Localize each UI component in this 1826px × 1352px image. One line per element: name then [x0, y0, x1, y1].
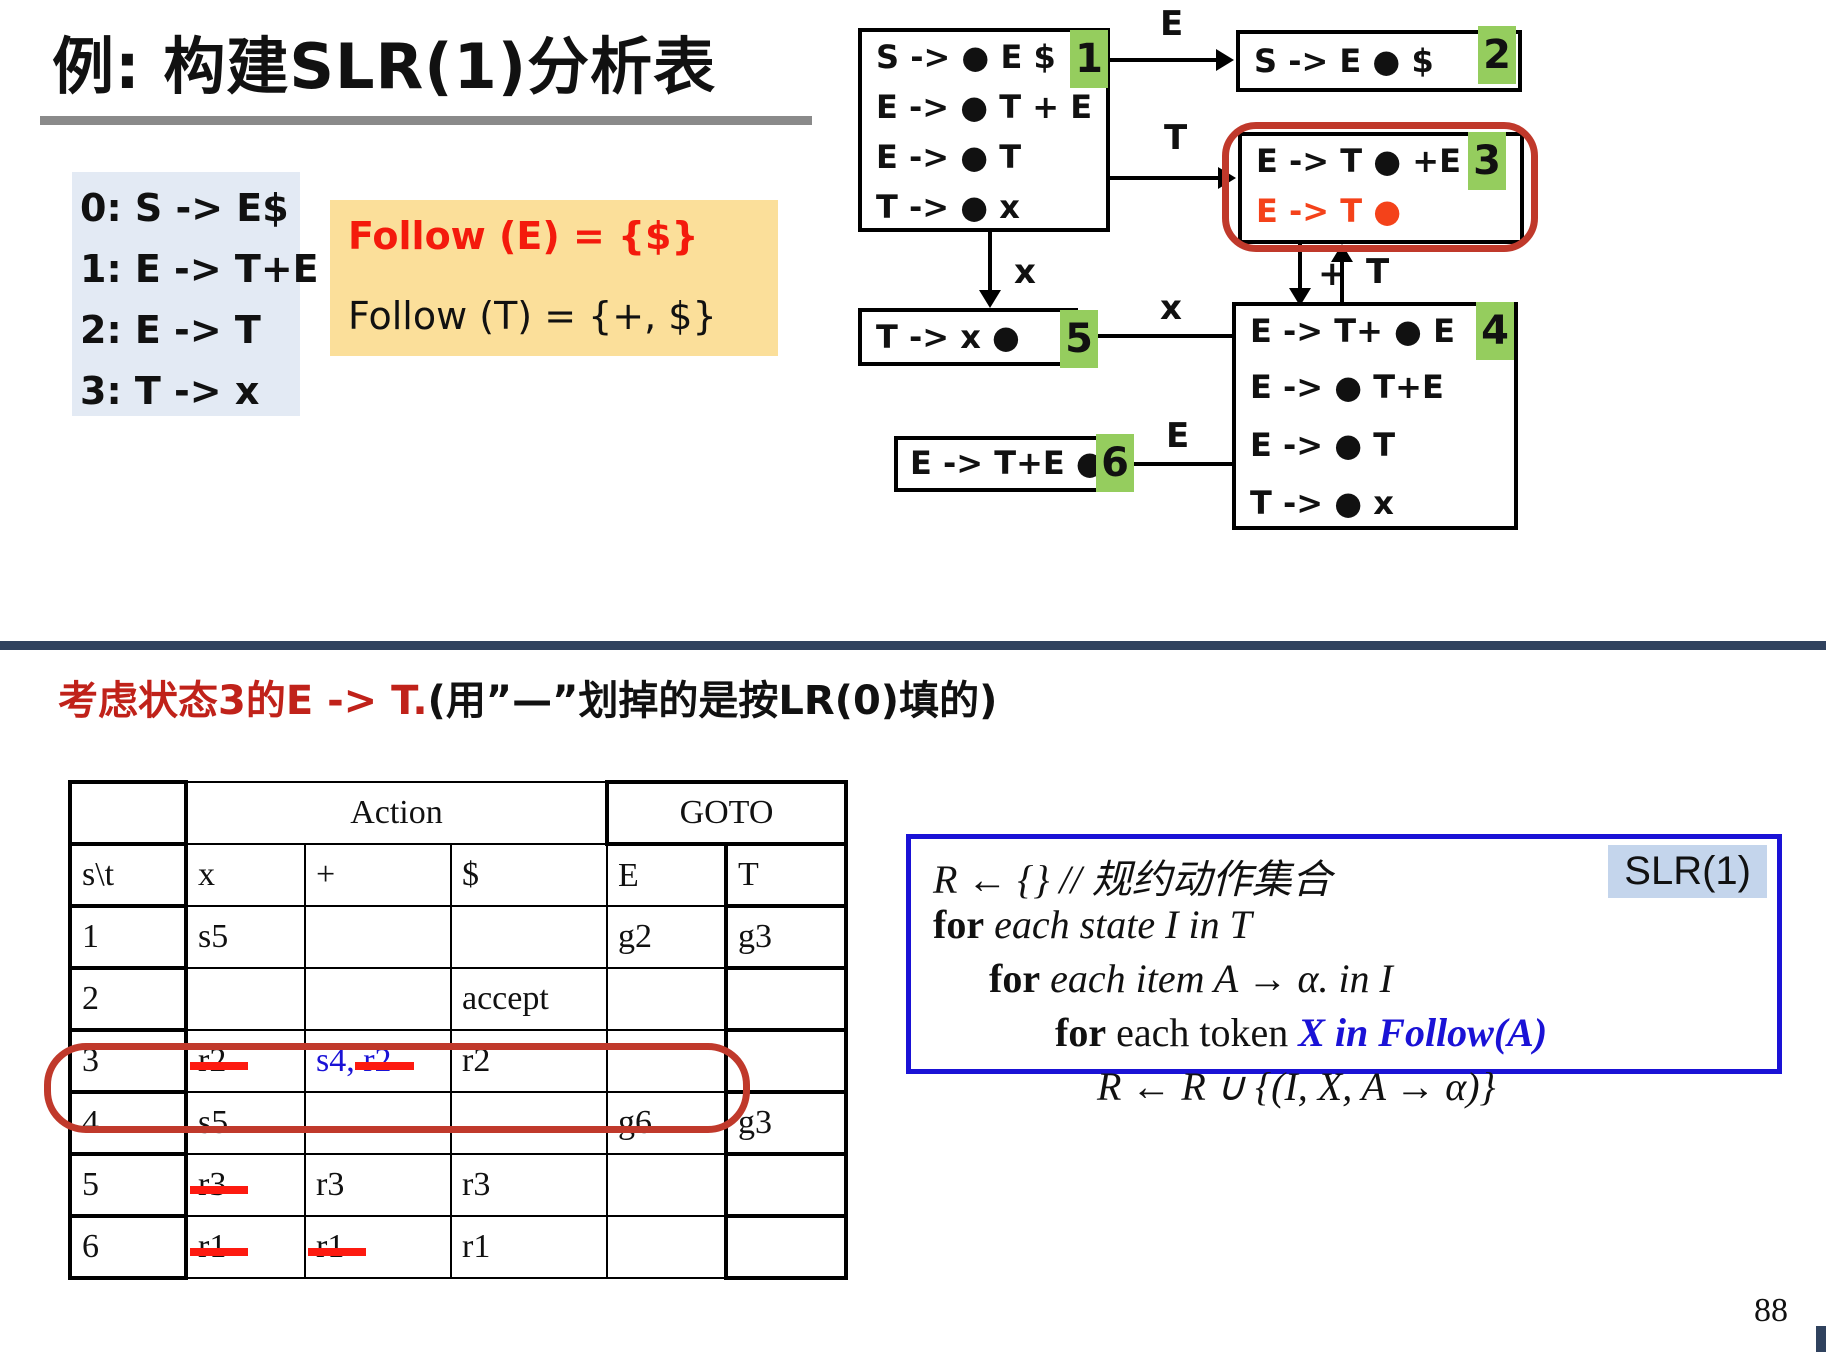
item-text: E -> ● T: [876, 138, 1021, 176]
cell-state: 5: [70, 1154, 186, 1216]
state-badge-6: 6: [1096, 434, 1134, 492]
cell-goto-E[interactable]: [607, 1154, 726, 1216]
table-group-header-row: Action GOTO: [70, 782, 846, 844]
grammar-rule: 0: S -> E$: [80, 178, 300, 239]
edge-arrowhead: [979, 290, 1001, 308]
group-header-goto: GOTO: [607, 782, 846, 844]
edge-1-to-2: [1108, 58, 1218, 62]
pseudo-line-2-text: each state I in T: [984, 902, 1252, 947]
table-column-header-row: s\t x + $ E T: [70, 844, 846, 906]
cell-state: 2: [70, 968, 186, 1030]
cell-action-dollar[interactable]: r3: [451, 1154, 607, 1216]
cell-goto-T[interactable]: [726, 1154, 846, 1216]
state-badge-4: 4: [1476, 302, 1514, 360]
cell-action-plus[interactable]: r3: [305, 1154, 451, 1216]
grammar-rule: 2: E -> T: [80, 300, 300, 361]
cell-action-x[interactable]: r3: [186, 1154, 305, 1216]
cell-action-plus[interactable]: [305, 968, 451, 1030]
state-box-5[interactable]: T -> x ●: [858, 308, 1078, 366]
pseudo-line-3: for each item A → α. in I: [989, 955, 1393, 1002]
col-header-plus: +: [305, 844, 451, 906]
section-divider: [0, 641, 1826, 650]
grammar-rule: 1: E -> T+E: [80, 239, 300, 300]
follow-sets-box: Follow (E) = {$} Follow (T) = {+, $}: [330, 200, 778, 356]
table-row[interactable]: 2 accept: [70, 968, 846, 1030]
pseudo-line-1: R ← {} // 规约动作集合: [933, 847, 1332, 905]
cell-goto-E[interactable]: [607, 1216, 726, 1278]
item-text: E -> ● T + E: [876, 88, 1092, 126]
table-row[interactable]: 5 r3 r3 r3: [70, 1154, 846, 1216]
pseudo-line-4: for each token X in Follow(A): [1055, 1009, 1547, 1056]
edge-label-x: x: [1014, 252, 1036, 292]
item-text: S -> ● E $: [876, 38, 1056, 76]
pseudo-line-3-text: each item A → α. in I: [1040, 956, 1393, 1001]
cell-state: 6: [70, 1216, 186, 1278]
page-title: 例: 构建SLR(1)分析表: [52, 16, 716, 106]
item-text: E -> ● T: [1250, 426, 1395, 464]
col-header-dollar: $: [451, 844, 607, 906]
cell-action-dollar[interactable]: r1: [451, 1216, 607, 1278]
grammar-rule: 3: T -> x: [80, 361, 300, 422]
table-row[interactable]: 1 s5 g2 g3: [70, 906, 846, 968]
subheading-black: (用”—”划掉的是按LR(0)填的): [428, 678, 998, 724]
col-header-T: T: [726, 844, 846, 906]
slr-parse-table[interactable]: Action GOTO s\t x + $ E T 1 s5 g2 g3 2 a…: [68, 780, 848, 1280]
grammar-rules-box: 0: S -> E$ 1: E -> T+E 2: E -> T 3: T ->…: [72, 172, 300, 416]
pseudo-keyword-for: for: [933, 902, 984, 947]
cell-action-dollar[interactable]: [451, 906, 607, 968]
edge-1-to-5: [988, 232, 992, 292]
state-box-6[interactable]: E -> T+E ●: [894, 436, 1114, 492]
item-text: E -> T+E ●: [910, 444, 1104, 482]
state-badge-5: 5: [1060, 310, 1098, 368]
title-divider: [40, 116, 812, 125]
struck-entry: r1: [316, 1228, 344, 1266]
state-badge-1: 1: [1070, 30, 1108, 88]
subheading-red: 考虑状态3的E -> T.: [58, 678, 428, 724]
col-header-x: x: [186, 844, 305, 906]
edge-arrowhead: [1216, 49, 1234, 71]
item-text: T -> x ●: [876, 318, 1020, 356]
edge-1-to-3-horiz: [1106, 176, 1220, 180]
edge-label-E: E: [1166, 416, 1189, 456]
table-row-3-highlight-ring: [44, 1043, 750, 1133]
cell-goto-E[interactable]: [607, 968, 726, 1030]
state-3-highlight-ring: [1222, 122, 1538, 252]
edge-4-to-6: [1134, 462, 1232, 466]
cell-action-x[interactable]: r1: [186, 1216, 305, 1278]
pseudo-line-1-text: R ← {} // 规约动作集合: [933, 857, 1332, 902]
slr1-tag: SLR(1): [1608, 845, 1767, 898]
col-header-state: s\t: [70, 844, 186, 906]
pseudo-line-5: R ← R ∪ {(I, X, A → α)}: [1097, 1063, 1496, 1110]
edge-label-T: T: [1366, 252, 1389, 292]
cell-goto-T[interactable]: g3: [726, 906, 846, 968]
struck-entry: r3: [198, 1166, 226, 1204]
cell-action-plus[interactable]: r1: [305, 1216, 451, 1278]
pseudo-line-2: for each state I in T: [933, 901, 1252, 948]
pseudo-follow-expr: X in Follow(A): [1298, 1010, 1547, 1055]
cell-action-x[interactable]: [186, 968, 305, 1030]
cell-goto-E[interactable]: g2: [607, 906, 726, 968]
cell-goto-T[interactable]: [726, 1216, 846, 1278]
sub-heading: 考虑状态3的E -> T.(用”—”划掉的是按LR(0)填的): [58, 668, 997, 726]
item-text: T -> ● x: [1250, 484, 1394, 522]
follow-t-text: Follow (T) = {+, $}: [348, 294, 717, 338]
edge-label-x: x: [1160, 288, 1182, 328]
edge-label-T: T: [1164, 118, 1187, 158]
cell-goto-T[interactable]: [726, 968, 846, 1030]
cell-action-dollar[interactable]: accept: [451, 968, 607, 1030]
edge-label-E: E: [1160, 4, 1183, 44]
group-header-action: Action: [186, 782, 607, 844]
cell-action-plus[interactable]: [305, 906, 451, 968]
pseudo-keyword-for: for: [989, 956, 1040, 1001]
follow-e-text: Follow (E) = {$}: [348, 214, 699, 258]
item-text: S -> E ● $: [1254, 42, 1434, 80]
cell-state: 1: [70, 906, 186, 968]
edge-4-to-5: [1098, 334, 1232, 338]
pseudo-keyword-for: for: [1055, 1010, 1106, 1055]
item-text: E -> T+ ● E: [1250, 312, 1455, 350]
table-row[interactable]: 6 r1 r1 r1: [70, 1216, 846, 1278]
corner-marker: [1816, 1326, 1826, 1352]
state-badge-2: 2: [1478, 26, 1516, 84]
item-text: E -> ● T+E: [1250, 368, 1444, 406]
pseudo-line-4-text: each token: [1106, 1010, 1298, 1055]
col-header-E: E: [607, 844, 726, 906]
edge-arrowhead: [1289, 288, 1311, 306]
pseudocode-box: SLR(1) R ← {} // 规约动作集合 for each state I…: [906, 834, 1782, 1074]
item-text: T -> ● x: [876, 188, 1020, 226]
page-number: 88: [1754, 1292, 1788, 1330]
struck-entry: r1: [198, 1228, 226, 1266]
cell-action-x[interactable]: s5: [186, 906, 305, 968]
group-header-blank: [70, 782, 186, 844]
edge-4-to-3: [1340, 258, 1344, 304]
